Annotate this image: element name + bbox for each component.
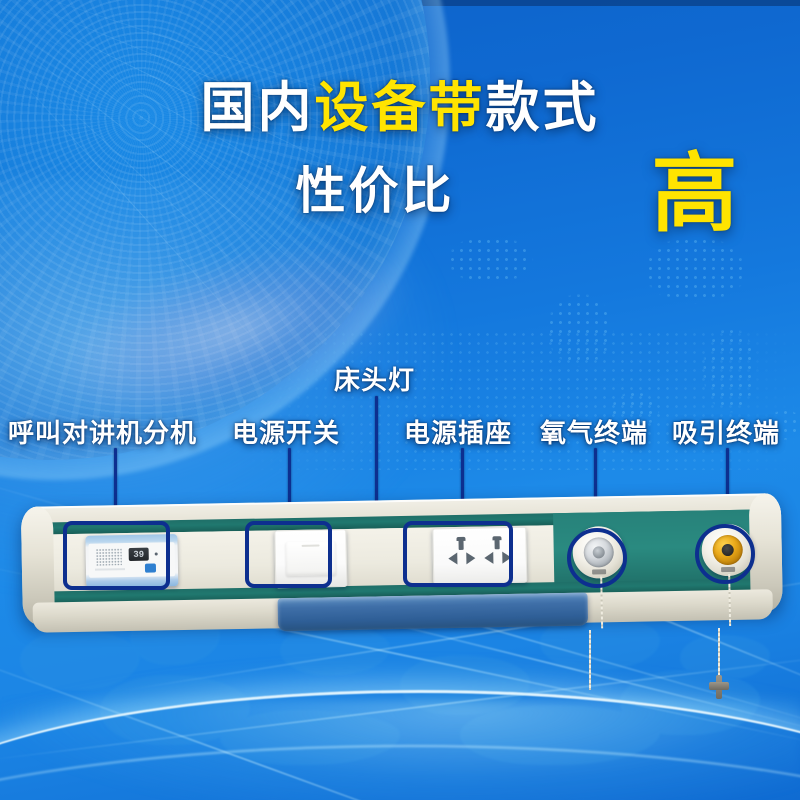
callout-label-suction: 吸引终端 [672,413,780,450]
suction-cord-lower [718,628,720,678]
bed-lamp-diffuser[interactable] [278,593,589,632]
headline-line1-part2: 款式 [486,78,600,138]
callout-label-power-socket: 电源插座 [404,413,512,450]
callout-label-power-switch: 电源开关 [232,413,340,450]
callout-label-bed-lamp: 床头灯 [334,360,415,397]
headline-block: 国内设备带款式 性价比 高 [0,80,800,231]
callout-label-intercom: 呼叫对讲机分机 [8,413,197,450]
oxygen-cord-lower [589,630,591,690]
headline-line-2: 性价比 高 [0,145,800,231]
weight-horizontal-bar [709,682,729,690]
headline-line1-highlight: 设备带 [315,78,486,138]
headline-line2-big-word: 高 [652,123,739,248]
headline-line2-text: 性价比 [296,151,455,223]
highlight-circle-oxygen [567,528,627,588]
highlight-box-intercom [63,521,170,590]
headline-line1-part1: 国内 [201,78,315,138]
pull-cord-weight[interactable] [709,675,729,699]
highlight-box-power-socket [403,521,513,587]
promo-banner: 国内设备带款式 性价比 高 呼叫对讲机分机 电源开关 床头灯 电源插座 氧气终端… [0,0,800,800]
highlight-box-power-switch [245,521,332,588]
callout-label-oxygen: 氧气终端 [540,413,648,450]
highlight-circle-suction [695,524,755,584]
